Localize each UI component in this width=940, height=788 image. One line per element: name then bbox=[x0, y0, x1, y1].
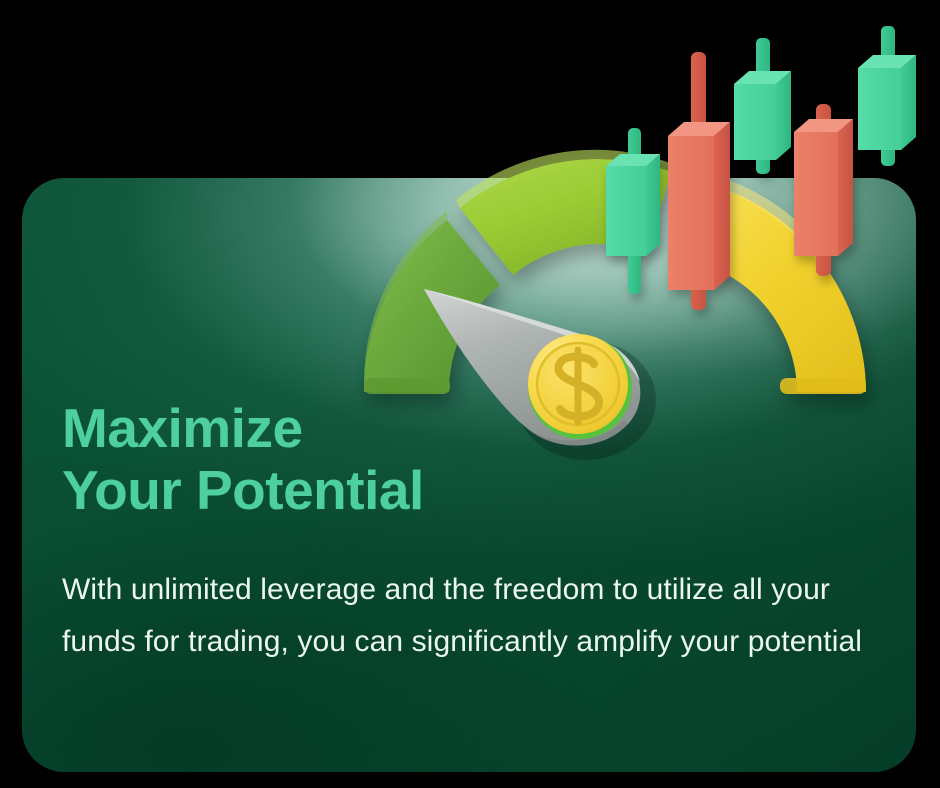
candlestick-5 bbox=[858, 26, 916, 166]
card-description: With unlimited leverage and the freedom … bbox=[62, 564, 908, 667]
screenshot-root: Maximize Your Potential With unlimited l… bbox=[0, 0, 940, 788]
page-title: Maximize Your Potential bbox=[62, 398, 602, 521]
candlestick-3 bbox=[734, 38, 791, 174]
